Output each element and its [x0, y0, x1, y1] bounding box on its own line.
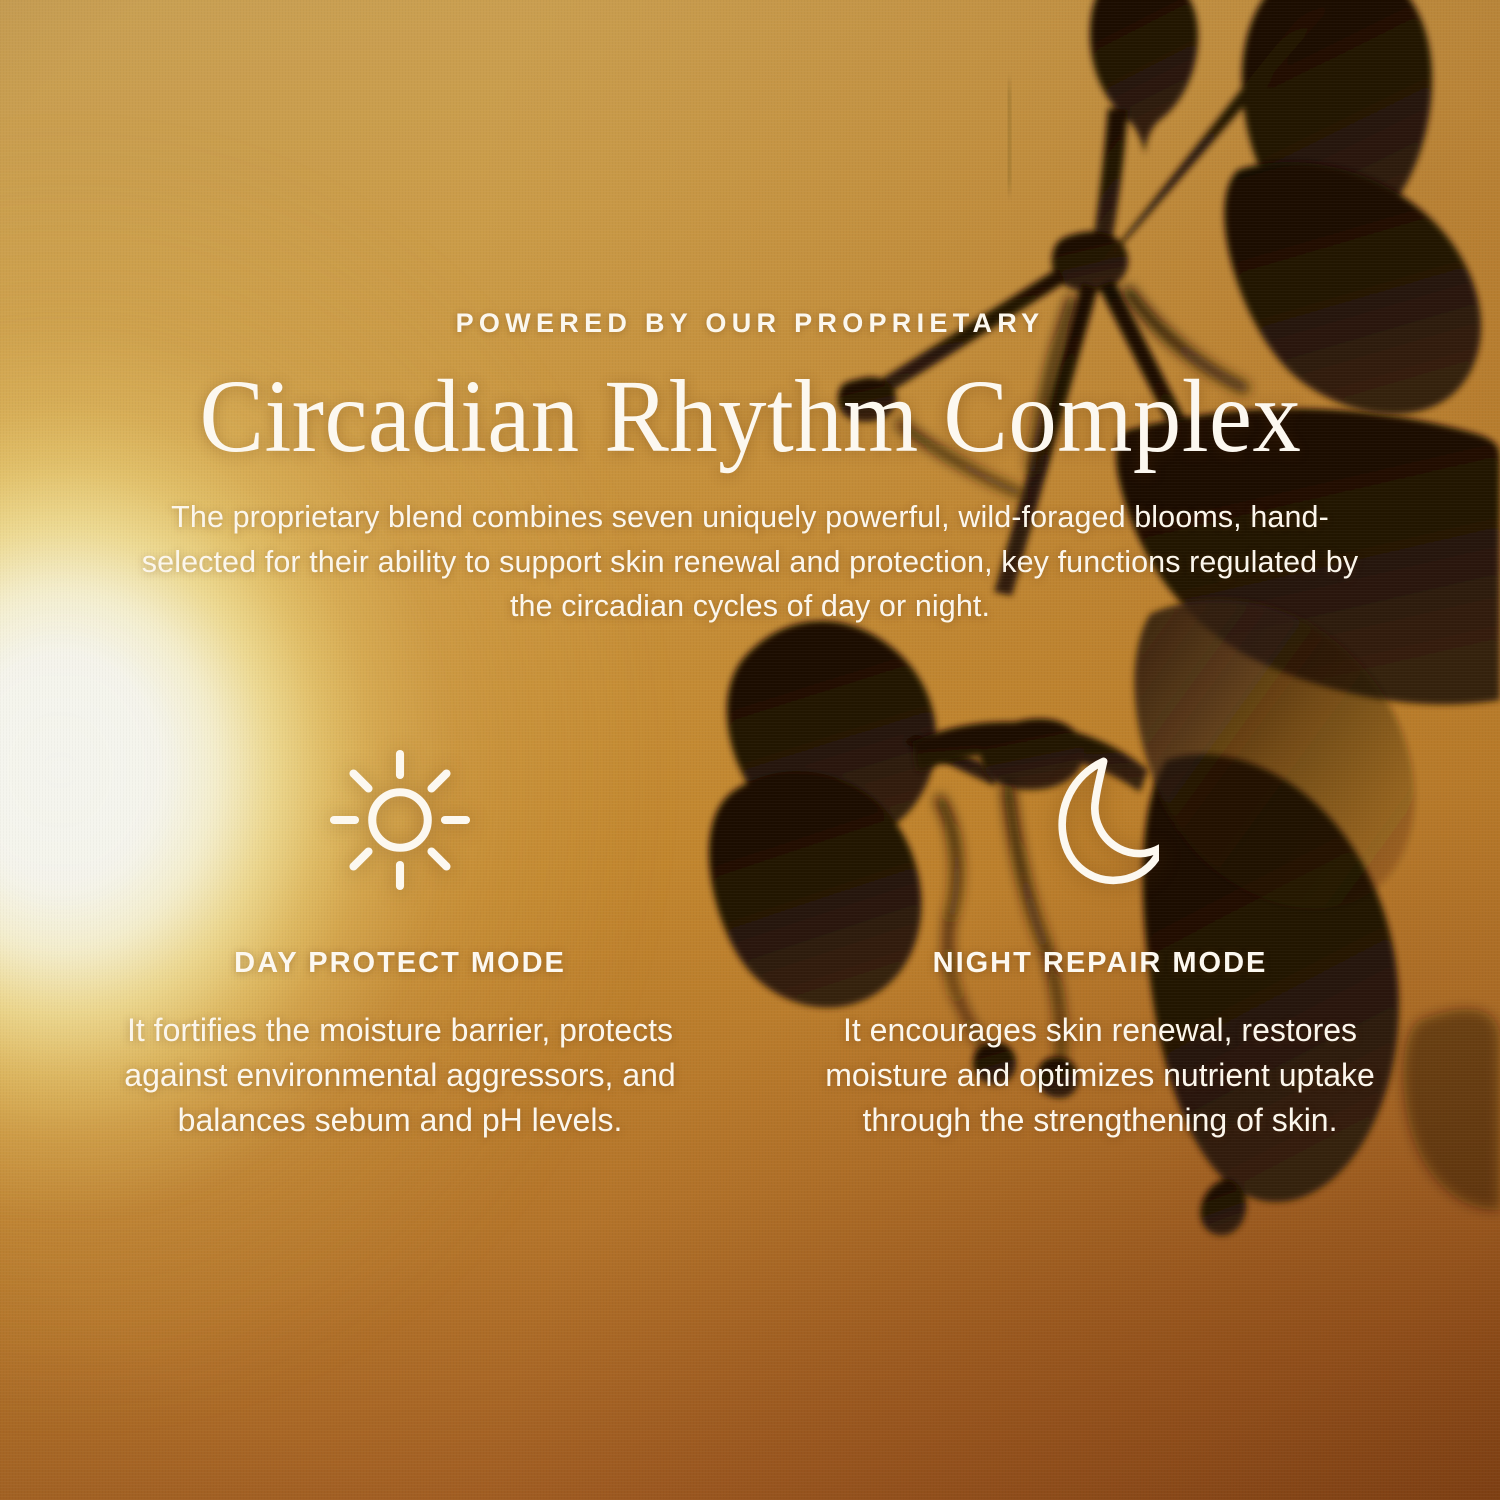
- modes-row: DAY PROTECT MODE It fortifies the moistu…: [0, 745, 1500, 1142]
- mode-night-repair: NIGHT REPAIR MODE It encourages skin ren…: [750, 745, 1450, 1142]
- eyebrow-text: POWERED BY OUR PROPRIETARY: [456, 308, 1045, 339]
- intro-paragraph: The proprietary blend combines seven uni…: [130, 495, 1370, 629]
- page-title: Circadian Rhythm Complex: [199, 365, 1301, 469]
- mode-title-night: NIGHT REPAIR MODE: [933, 947, 1268, 980]
- mode-body-night: It encourages skin renewal, restores moi…: [790, 1008, 1410, 1142]
- mode-day-protect: DAY PROTECT MODE It fortifies the moistu…: [50, 745, 750, 1142]
- sun-icon: [325, 745, 475, 895]
- moon-icon: [1041, 745, 1159, 895]
- mode-body-day: It fortifies the moisture barrier, prote…: [80, 1008, 720, 1142]
- mode-title-day: DAY PROTECT MODE: [234, 947, 566, 980]
- promo-graphic: POWERED BY OUR PROPRIETARY Circadian Rhy…: [0, 0, 1500, 1500]
